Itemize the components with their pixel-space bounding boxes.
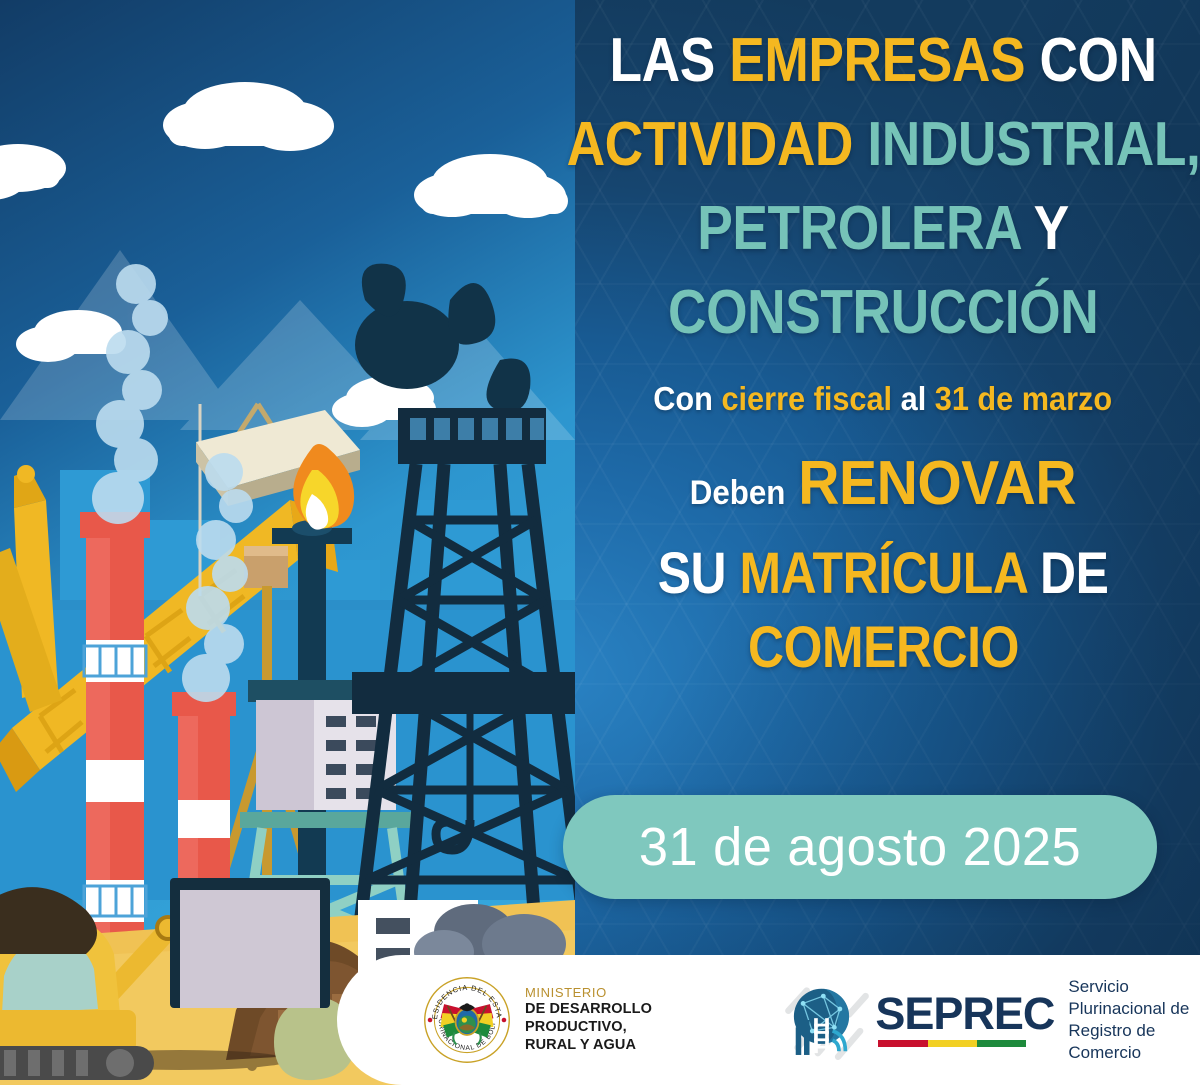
headline-3-seg-1: PETROLERA <box>697 194 1033 263</box>
seprec-wordmark: SEPREC <box>875 993 1054 1047</box>
poster-canvas: LAS EMPRESAS CON ACTIVIDAD INDUSTRIAL, P… <box>0 0 1200 1085</box>
headline-4-seg-1: CONSTRUCCIÓN <box>668 278 1098 347</box>
headline-5-seg-2: MATRÍCULA <box>739 541 1039 606</box>
deadline-pill: 31 de agosto 2025 <box>563 795 1157 899</box>
action-verb: RENOVAR <box>798 448 1076 519</box>
illustration-svg <box>0 0 575 1085</box>
flag-green <box>977 1040 1026 1047</box>
headline-1-seg-2: EMPRESAS <box>729 26 1039 95</box>
flag-yellow <box>928 1040 977 1047</box>
smokestack-tall <box>80 512 150 940</box>
foreground-building <box>170 878 330 1008</box>
headline-5-seg-1: SU <box>658 541 740 606</box>
bolivia-state-seal-icon: PRESIDENCIA DEL ESTADO PLURINACIONAL DE … <box>423 976 511 1064</box>
flag-red <box>878 1040 927 1047</box>
headline-6-seg-1: COMERCIO <box>748 615 1019 680</box>
sub-seg-1: Con <box>654 380 722 417</box>
sub-seg-2: cierre fiscal <box>722 380 901 417</box>
headline-line-6: COMERCIO <box>748 619 1019 677</box>
headline-2-seg-1: ACTIVIDAD <box>566 110 867 179</box>
seprec-tagline-line-1: Servicio Plurinacional de <box>1068 976 1200 1020</box>
seprec-tagline: Servicio Plurinacional de Registro de Co… <box>1068 976 1200 1064</box>
headline-line-3: PETROLERA Y <box>697 198 1069 260</box>
sub-seg-4: 31 de marzo <box>935 380 1112 417</box>
footer-bar: PRESIDENCIA DEL ESTADO PLURINACIONAL DE … <box>337 955 1200 1085</box>
government-logo-block: PRESIDENCIA DEL ESTADO PLURINACIONAL DE … <box>423 976 719 1064</box>
bolivia-flag-bar <box>878 1040 1026 1047</box>
seprec-logo-block: SEPREC Servicio Plurinacional de Registr… <box>781 974 1200 1066</box>
headline-1-seg-1: LAS <box>609 26 729 95</box>
headline-3-seg-2: Y <box>1034 194 1069 263</box>
headline-1-seg-3: CON <box>1039 26 1156 95</box>
action-line: Deben RENOVAR <box>690 448 1076 519</box>
action-prefix: Deben <box>690 474 786 513</box>
ministry-text-block: MINISTERIO DE DESARROLLO PRODUCTIVO, RUR… <box>525 985 719 1055</box>
ministry-line-2: DE DESARROLLO PRODUCTIVO, <box>525 1001 719 1037</box>
deadline-date-text: 31 de agosto 2025 <box>639 816 1081 878</box>
seprec-globe-network-icon <box>781 974 873 1066</box>
seprec-name: SEPREC <box>875 993 1054 1036</box>
ministry-line-1: MINISTERIO <box>525 985 719 1001</box>
headline-5-seg-3: DE <box>1040 541 1108 606</box>
fiscal-closing-line: Con cierre fiscal al 31 de marzo <box>654 380 1113 418</box>
headline-line-4: CONSTRUCCIÓN <box>668 282 1098 344</box>
sub-seg-3: al <box>901 380 935 417</box>
headline-line-2: ACTIVIDAD INDUSTRIAL, <box>566 114 1200 176</box>
headline-line-5: SU MATRÍCULA DE <box>658 545 1109 603</box>
headline-line-1: LAS EMPRESAS CON <box>609 30 1156 92</box>
headline-2-seg-2: INDUSTRIAL, <box>867 110 1200 179</box>
derrick-platform <box>352 672 575 714</box>
industrial-illustration <box>0 0 575 1085</box>
seprec-tagline-line-2: Registro de Comercio <box>1068 1020 1200 1064</box>
ministry-line-3: RURAL Y AGUA <box>525 1037 719 1055</box>
